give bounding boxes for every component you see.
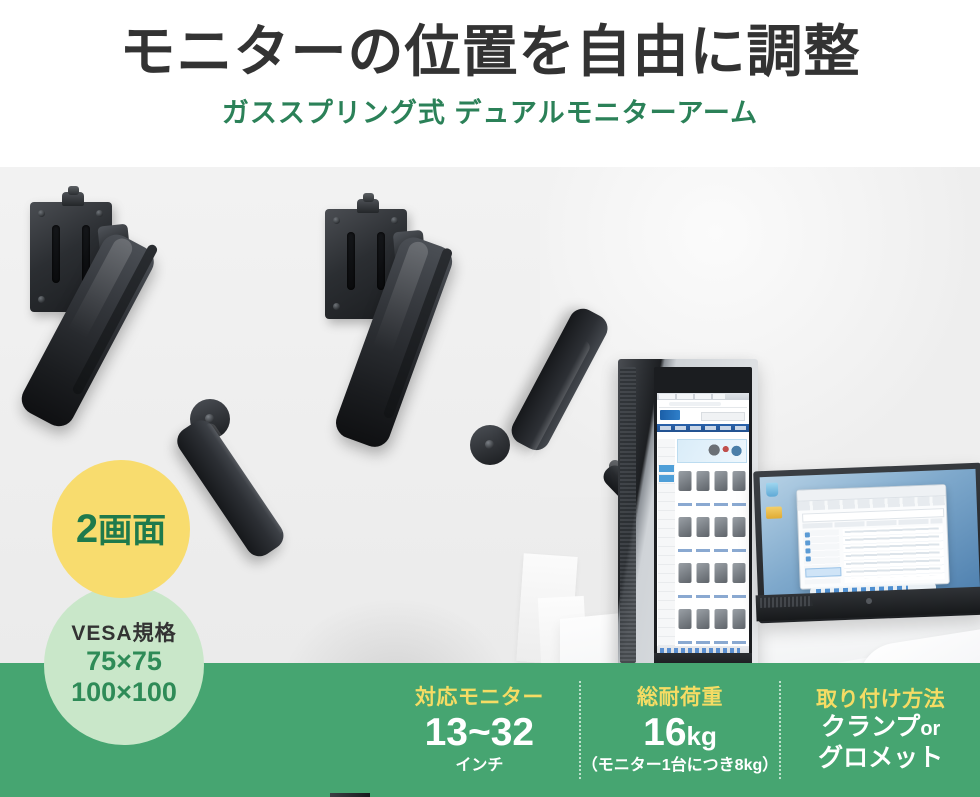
product-tile — [677, 557, 693, 601]
site-logo — [660, 410, 680, 420]
product-tile — [713, 603, 729, 647]
browser-url-text — [669, 402, 721, 406]
page-title: モニターの位置を自由に調整 — [120, 0, 861, 81]
explorer-selected-item — [805, 567, 841, 577]
nav-item-icon — [805, 548, 810, 553]
spec-unit-monitor-size: インチ — [455, 756, 503, 775]
product-grid — [677, 465, 747, 649]
product-tile — [677, 511, 693, 555]
landscape-monitor-vent — [760, 596, 812, 608]
product-tile — [731, 511, 747, 555]
badge-vesa-title: VESA規格 — [71, 622, 176, 645]
badge-vesa-size-2: 100×100 — [71, 677, 177, 708]
product-tile — [713, 465, 729, 509]
spec-column-load-capacity: 総耐荷重 16kg （モニター1台につき8kg） — [581, 675, 780, 785]
product-tile — [713, 511, 729, 555]
badge-vesa-size-1: 75×75 — [86, 646, 162, 677]
vesa-hole — [391, 217, 398, 224]
spec-value-load-unit: kg — [687, 721, 717, 751]
spec-value-load-number: 16 — [643, 711, 686, 754]
product-tile — [677, 465, 693, 509]
badge-screen-label: 画面 — [98, 512, 166, 550]
browser-tabs — [659, 394, 725, 399]
site-sidebar-button-2 — [659, 475, 674, 482]
vesa-slot — [52, 225, 60, 283]
badge-screen-count: 2画面 — [52, 460, 190, 598]
vesa-slot — [347, 232, 355, 290]
spec-note-load-capacity: （モニター1台につき8kg） — [582, 756, 778, 775]
product-tile — [731, 557, 747, 601]
recycle-bin-icon — [766, 482, 779, 496]
spec-value-monitor-size: 13~32 — [425, 712, 535, 755]
lower-arm-left — [172, 415, 289, 562]
elbow-screw-right — [485, 440, 494, 449]
file-explorer-window — [796, 484, 950, 590]
product-tile — [695, 557, 711, 601]
spec-mounting-clamp: クランプ — [821, 713, 920, 741]
site-banner-products — [707, 441, 743, 459]
product-tile — [695, 603, 711, 647]
site-sidebar-button-1 — [659, 465, 674, 472]
spec-value-mounting-line1: クランプor — [821, 712, 940, 743]
spec-label-monitor-size: 対応モニター — [415, 685, 544, 710]
product-tile — [677, 603, 693, 647]
page-subtitle: ガススプリング式 デュアルモニターアーム — [222, 81, 758, 130]
spec-mounting-or: or — [920, 718, 940, 740]
vesa-hole — [38, 210, 45, 217]
badge-screen-number: 2 — [76, 507, 98, 551]
vesa-hole — [96, 210, 103, 217]
spec-value-load-capacity: 16kg — [643, 712, 717, 755]
site-nav-items — [660, 426, 746, 430]
product-tile — [695, 511, 711, 555]
folder-icon — [766, 506, 782, 519]
nav-item-icon — [805, 532, 810, 537]
vesa-hole — [333, 217, 340, 224]
nav-item-icon — [805, 540, 810, 545]
spec-label-mounting: 取り付け方法 — [816, 687, 945, 712]
vesa-slot — [377, 232, 385, 290]
vesa-hole — [333, 303, 340, 310]
product-tile — [695, 465, 711, 509]
badge-screen-count-text: 2画面 — [76, 509, 166, 549]
spec-value-mounting-line2: グロメット — [818, 743, 943, 774]
portrait-monitor-vent — [620, 367, 636, 663]
vesa-lock-knob-cap — [68, 186, 79, 195]
spec-column-monitor-size: 対応モニター 13~32 インチ — [380, 675, 579, 785]
spec-label-load-capacity: 総耐荷重 — [637, 685, 723, 710]
landscape-monitor-screen — [760, 469, 980, 605]
spec-columns: 対応モニター 13~32 インチ 総耐荷重 16kg （モニター1台につき8kg… — [380, 663, 980, 797]
explorer-file-names — [845, 527, 941, 579]
product-tile — [731, 465, 747, 509]
badge-vesa-standard: VESA規格 75×75 100×100 — [44, 585, 204, 745]
spec-column-mounting: 取り付け方法 クランプor グロメット — [781, 675, 980, 785]
header-section: モニターの位置を自由に調整 ガススプリング式 デュアルモニターアーム — [0, 0, 980, 167]
advertisement-page: モニターの位置を自由に調整 ガススプリング式 デュアルモニターアーム — [0, 0, 980, 797]
vesa-lock-knob-cap — [363, 193, 374, 202]
portrait-monitor-screen — [657, 393, 749, 655]
nav-item-icon — [806, 556, 811, 561]
product-tile — [713, 557, 729, 601]
site-search-field — [701, 412, 745, 421]
vesa-hole — [38, 296, 45, 303]
product-tile — [731, 603, 747, 647]
